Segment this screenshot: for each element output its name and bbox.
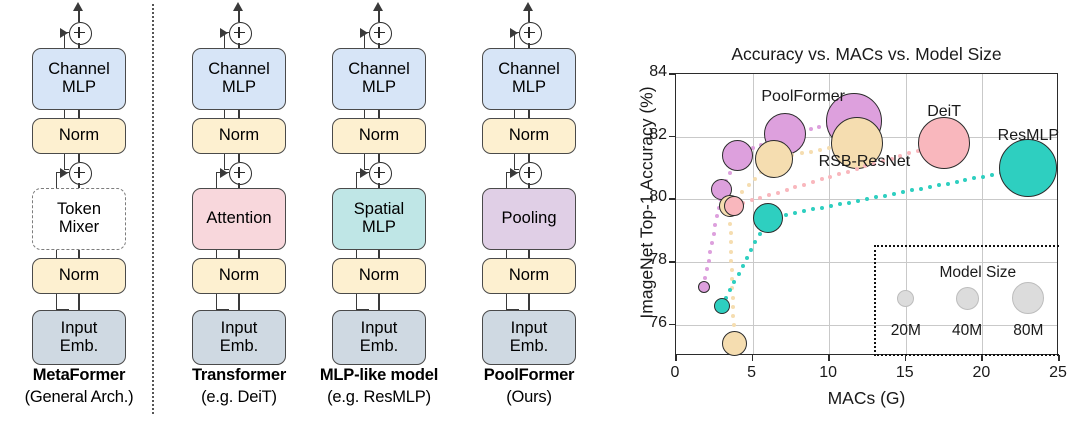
- residual-arrow-icon-1: [60, 28, 68, 38]
- trend-dot-resmlp: [802, 209, 806, 213]
- block-label-line1: Norm: [59, 127, 99, 145]
- connector-line-6: [378, 294, 380, 310]
- block-label-line1: Norm: [359, 127, 399, 145]
- legend-size-marker-40M: [956, 287, 979, 310]
- residual-arrow-icon-2: [510, 168, 518, 178]
- legend-size-marker-20M: [897, 290, 914, 307]
- channel-mlp-block: ChannelMLP: [332, 48, 426, 110]
- data-point-rsb-resnet[interactable]: [722, 331, 747, 356]
- residual-add-icon-2: [369, 162, 392, 185]
- connector-line-5: [378, 250, 380, 258]
- trend-dot-rsb-resnet: [731, 305, 735, 309]
- panel-caption-subtitle: (Ours): [444, 388, 614, 407]
- block-label-line1: Channel: [48, 61, 109, 79]
- plot-area: Model Size20M40M80MPoolFormerRSB-ResNetD…: [675, 73, 1058, 355]
- legend-size-label: 40M: [943, 322, 991, 340]
- norm-block-upper: Norm: [32, 118, 126, 154]
- block-label-line1: Norm: [359, 267, 399, 285]
- connector-line-2: [238, 110, 240, 118]
- trend-dot-rsb-resnet: [729, 250, 733, 254]
- block-label-line1: Norm: [59, 267, 99, 285]
- input-embedding-block: InputEmb.: [482, 310, 576, 365]
- y-axis-tick-label: 80: [633, 188, 667, 206]
- x-axis-tick-label: 5: [732, 364, 772, 382]
- trend-dot-poolformer: [712, 232, 716, 236]
- trend-dot-rsb-resnet: [818, 148, 822, 152]
- trend-dot-resmlp: [937, 183, 941, 187]
- trend-dot-rsb-resnet: [731, 296, 735, 300]
- norm-block-lower: Norm: [332, 258, 426, 294]
- trend-dot-resmlp: [928, 185, 932, 189]
- trend-dot-rsb-resnet: [753, 177, 757, 181]
- norm-block-lower: Norm: [192, 258, 286, 294]
- trend-dot-poolformer: [817, 125, 821, 129]
- trend-dot-rsb-resnet: [809, 150, 813, 154]
- chart-title: Accuracy vs. MACs vs. Model Size: [675, 44, 1058, 65]
- block-label-line1: Token: [57, 201, 101, 219]
- x-axis-tick-mark: [905, 355, 907, 361]
- trend-dot-poolformer: [809, 127, 813, 131]
- trend-dot-resmlp: [793, 211, 797, 215]
- trend-dot-resmlp: [963, 178, 967, 182]
- data-point-rsb-resnet[interactable]: [755, 140, 793, 178]
- panel-caption-subtitle: (General Arch.): [0, 388, 164, 407]
- trend-dot-rsb-resnet: [740, 190, 744, 194]
- residual-add-icon-2: [229, 162, 252, 185]
- norm-block-lower: Norm: [482, 258, 576, 294]
- norm-block-upper: Norm: [482, 118, 576, 154]
- output-line: [378, 10, 380, 22]
- trend-dot-poolformer: [710, 241, 714, 245]
- trend-dot-resmlp: [892, 192, 896, 196]
- arch-panel-mlp-like: ChannelMLPNormSpatialMLPNormInputEmb.MLP…: [314, 0, 444, 421]
- trend-dot-resmlp: [745, 256, 749, 260]
- residual-add-icon-2: [519, 162, 542, 185]
- trend-dot-resmlp: [990, 173, 994, 177]
- trend-dot-resmlp: [732, 280, 736, 284]
- block-label-line2: MLP: [348, 79, 409, 97]
- trend-dot-rsb-resnet: [730, 268, 734, 272]
- x-axis-tick-mark: [981, 355, 983, 361]
- block-label-line2: MLP: [354, 219, 404, 237]
- block-label-line1: Channel: [498, 61, 559, 79]
- architecture-diagrams: ChannelMLPNormTokenMixerNormInputEmb.Met…: [0, 0, 600, 421]
- block-stack: ChannelMLPNormTokenMixerNormInputEmb.: [32, 0, 126, 360]
- channel-mlp-block: ChannelMLP: [192, 48, 286, 110]
- connector-line-6: [528, 294, 530, 310]
- trend-dot-poolformer: [715, 214, 719, 218]
- input-embedding-block: InputEmb.: [332, 310, 426, 365]
- x-axis-tick-mark: [1058, 355, 1060, 361]
- block-label-line1: Channel: [208, 61, 269, 79]
- connector-line-5: [528, 250, 530, 258]
- spatial-mlp-block: SpatialMLP: [332, 188, 426, 250]
- channel-mlp-block: ChannelMLP: [482, 48, 576, 110]
- data-point-resmlp[interactable]: [714, 298, 730, 314]
- model-size-legend-title: Model Size: [940, 264, 1017, 282]
- block-label-line2: MLP: [208, 79, 269, 97]
- connector-line-5: [238, 250, 240, 258]
- trend-dot-poolformer: [713, 223, 717, 227]
- block-label-line1: Norm: [219, 267, 259, 285]
- residual-arrow-icon-1: [220, 28, 228, 38]
- block-label-line1: Norm: [509, 127, 549, 145]
- block-label-line2: MLP: [498, 79, 559, 97]
- data-point-resmlp[interactable]: [999, 139, 1057, 197]
- panel-caption-title: MLP-like model: [294, 366, 464, 385]
- block-label-line1: Input: [360, 320, 399, 338]
- trend-dot-resmlp: [758, 232, 762, 236]
- trend-dot-resmlp: [741, 264, 745, 268]
- trend-dot-resmlp: [910, 188, 914, 192]
- trend-dot-resmlp: [981, 175, 985, 179]
- trend-dot-deit: [767, 193, 771, 197]
- connector-line-6: [238, 294, 240, 310]
- trend-dot-resmlp: [856, 199, 860, 203]
- residual-add-icon-1: [229, 22, 252, 45]
- trend-dot-resmlp: [737, 272, 741, 276]
- y-axis-tick-label: 78: [633, 251, 667, 269]
- trend-dot-resmlp: [865, 197, 869, 201]
- x-axis-tick-label: 25: [1038, 364, 1078, 382]
- trend-dot-resmlp: [955, 180, 959, 184]
- trend-dot-rsb-resnet: [732, 323, 736, 327]
- trend-dot-poolformer: [708, 250, 712, 254]
- block-label-line2: Mixer: [57, 219, 101, 237]
- series-label-poolformer: PoolFormer: [761, 88, 845, 106]
- trend-dot-deit: [828, 175, 832, 179]
- block-label-line2: MLP: [48, 79, 109, 97]
- trend-dot-rsb-resnet: [729, 231, 733, 235]
- attention-block: Attention: [192, 188, 286, 250]
- y-axis-tick-mark: [669, 136, 675, 138]
- trend-dot-resmlp: [919, 187, 923, 191]
- x-axis-tick-label: 10: [808, 364, 848, 382]
- token-mixer-block: TokenMixer: [32, 188, 126, 250]
- input-embedding-block: InputEmb.: [192, 310, 286, 365]
- residual-arrow-icon-2: [360, 168, 368, 178]
- block-label-line1: Input: [510, 320, 549, 338]
- residual-arrow-icon-2: [220, 168, 228, 178]
- trend-dot-poolformer: [707, 259, 711, 263]
- trend-dot-poolformer: [703, 276, 707, 280]
- trend-dot-resmlp: [972, 176, 976, 180]
- trend-dot-rsb-resnet: [747, 183, 751, 187]
- trend-dot-resmlp: [847, 201, 851, 205]
- block-label-line1: Channel: [348, 61, 409, 79]
- figure-root: ChannelMLPNormTokenMixerNormInputEmb.Met…: [0, 0, 1080, 421]
- trend-dot-resmlp: [820, 206, 824, 210]
- x-axis-label: MACs (G): [675, 388, 1058, 409]
- block-label-line2: Emb.: [220, 338, 259, 356]
- series-label-deit: DeiT: [927, 103, 961, 121]
- series-label-resmlp: ResMLP: [998, 127, 1059, 145]
- x-axis-tick-mark: [828, 355, 830, 361]
- connector-line-2: [528, 110, 530, 118]
- trend-dot-deit: [802, 183, 806, 187]
- y-axis-tick-mark: [669, 198, 675, 200]
- block-label-line2: Emb.: [60, 338, 99, 356]
- trend-dot-resmlp: [838, 202, 842, 206]
- block-label-line1: Pooling: [501, 210, 556, 228]
- connector-line-3: [378, 154, 380, 162]
- arch-panel-transformer: ChannelMLPNormAttentionNormInputEmb.Tran…: [174, 0, 304, 421]
- trend-dot-resmlp: [946, 182, 950, 186]
- residual-add-icon-1: [369, 22, 392, 45]
- trend-dot-resmlp: [883, 194, 887, 198]
- trend-dot-rsb-resnet: [728, 222, 732, 226]
- scatter-chart: Accuracy vs. MACs vs. Model Size ImageNe…: [600, 0, 1080, 421]
- connector-line-3: [238, 154, 240, 162]
- output-line: [238, 10, 240, 22]
- legend-size-label: 20M: [882, 322, 930, 340]
- connector-line-2: [78, 110, 80, 118]
- panel-caption-title: PoolFormer: [444, 366, 614, 385]
- panel-caption-subtitle: (e.g. ResMLP): [294, 388, 464, 407]
- arch-panel-metaformer: ChannelMLPNormTokenMixerNormInputEmb.Met…: [14, 0, 144, 421]
- y-axis-tick-mark: [669, 261, 675, 263]
- trend-dot-deit: [793, 185, 797, 189]
- legend-size-label: 80M: [1004, 322, 1052, 340]
- block-stack: ChannelMLPNormAttentionNormInputEmb.: [192, 0, 286, 360]
- data-point-deit[interactable]: [918, 117, 970, 169]
- trend-dot-deit: [811, 180, 815, 184]
- block-label-line1: Attention: [206, 210, 271, 228]
- x-axis-tick-label: 0: [655, 364, 695, 382]
- y-axis-tick-label: 84: [633, 63, 667, 81]
- connector-line-5: [78, 250, 80, 258]
- residual-add-icon-1: [519, 22, 542, 45]
- input-embedding-block: InputEmb.: [32, 310, 126, 365]
- x-axis-tick-label: 20: [961, 364, 1001, 382]
- trend-dot-deit: [837, 172, 841, 176]
- trend-dot-resmlp: [901, 190, 905, 194]
- x-axis-tick-mark: [752, 355, 754, 361]
- trend-dot-rsb-resnet: [729, 240, 733, 244]
- data-point-deit[interactable]: [724, 196, 744, 216]
- connector-line-3: [78, 154, 80, 162]
- pooling-block: Pooling: [482, 188, 576, 250]
- block-label-line1: Input: [220, 320, 259, 338]
- norm-block-upper: Norm: [192, 118, 286, 154]
- residual-arrow-icon-1: [360, 28, 368, 38]
- x-axis-tick-mark: [675, 355, 677, 361]
- trend-dot-poolformer: [728, 171, 732, 175]
- data-point-resmlp[interactable]: [753, 203, 783, 233]
- trend-dot-deit: [785, 188, 789, 192]
- block-label-line1: Norm: [509, 267, 549, 285]
- connector-line-6: [78, 294, 80, 310]
- block-label-line1: Input: [60, 320, 99, 338]
- panel-divider: [152, 4, 154, 414]
- y-axis-tick-label: 82: [633, 126, 667, 144]
- trend-dot-poolformer: [705, 267, 709, 271]
- trend-dot-resmlp: [829, 204, 833, 208]
- norm-block-upper: Norm: [332, 118, 426, 154]
- output-line: [78, 10, 80, 22]
- block-stack: ChannelMLPNormPoolingNormInputEmb.: [482, 0, 576, 360]
- trend-dot-resmlp: [753, 240, 757, 244]
- trend-dot-rsb-resnet: [800, 151, 804, 155]
- norm-block-lower: Norm: [32, 258, 126, 294]
- block-label-line1: Norm: [219, 127, 259, 145]
- data-point-poolformer[interactable]: [698, 281, 710, 293]
- residual-add-icon-2: [69, 162, 92, 185]
- block-stack: ChannelMLPNormSpatialMLPNormInputEmb.: [332, 0, 426, 360]
- trend-dot-deit: [776, 191, 780, 195]
- trend-dot-resmlp: [784, 213, 788, 217]
- y-axis-tick-mark: [669, 73, 675, 75]
- panel-caption-title: MetaFormer: [0, 366, 164, 385]
- trend-dot-deit: [820, 177, 824, 181]
- x-axis-tick-label: 15: [885, 364, 925, 382]
- arch-panel-poolformer: ChannelMLPNormPoolingNormInputEmb.PoolFo…: [464, 0, 594, 421]
- connector-line-3: [528, 154, 530, 162]
- connector-line-2: [378, 110, 380, 118]
- series-label-rsb-resnet: RSB-ResNet: [819, 153, 911, 171]
- trend-dot-resmlp: [728, 288, 732, 292]
- block-label-line1: Spatial: [354, 201, 404, 219]
- residual-add-icon-1: [69, 22, 92, 45]
- y-axis-tick-label: 76: [633, 314, 667, 332]
- residual-arrow-icon-2: [60, 168, 68, 178]
- channel-mlp-block: ChannelMLP: [32, 48, 126, 110]
- data-point-poolformer[interactable]: [722, 140, 753, 171]
- residual-arrow-icon-1: [510, 28, 518, 38]
- y-axis-tick-mark: [669, 324, 675, 326]
- block-label-line2: Emb.: [360, 338, 399, 356]
- trend-dot-rsb-resnet: [731, 314, 735, 318]
- trend-dot-resmlp: [811, 207, 815, 211]
- output-line: [528, 10, 530, 22]
- block-label-line2: Emb.: [510, 338, 549, 356]
